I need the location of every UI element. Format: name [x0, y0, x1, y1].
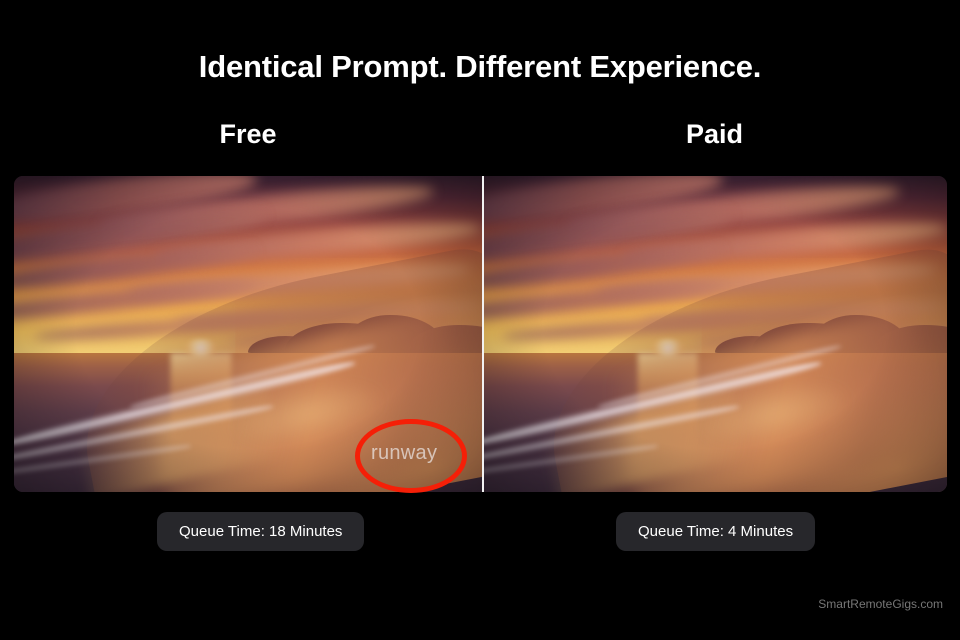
red-circle-highlight-annotation: [355, 419, 467, 493]
site-attribution: SmartRemoteGigs.com: [818, 597, 943, 611]
vignette: [482, 176, 947, 492]
queue-time-badge-free: Queue Time: 18 Minutes: [157, 512, 364, 551]
panel-divider: [482, 176, 484, 492]
queue-time-badge-paid: Queue Time: 4 Minutes: [616, 512, 815, 551]
sunset-image-paid: [482, 176, 947, 492]
column-header-free: Free: [14, 119, 482, 150]
page-title: Identical Prompt. Different Experience.: [0, 49, 960, 85]
column-header-paid: Paid: [482, 119, 947, 150]
image-comparison-panel: [14, 176, 947, 492]
comparison-graphic: Identical Prompt. Different Experience. …: [0, 0, 960, 640]
